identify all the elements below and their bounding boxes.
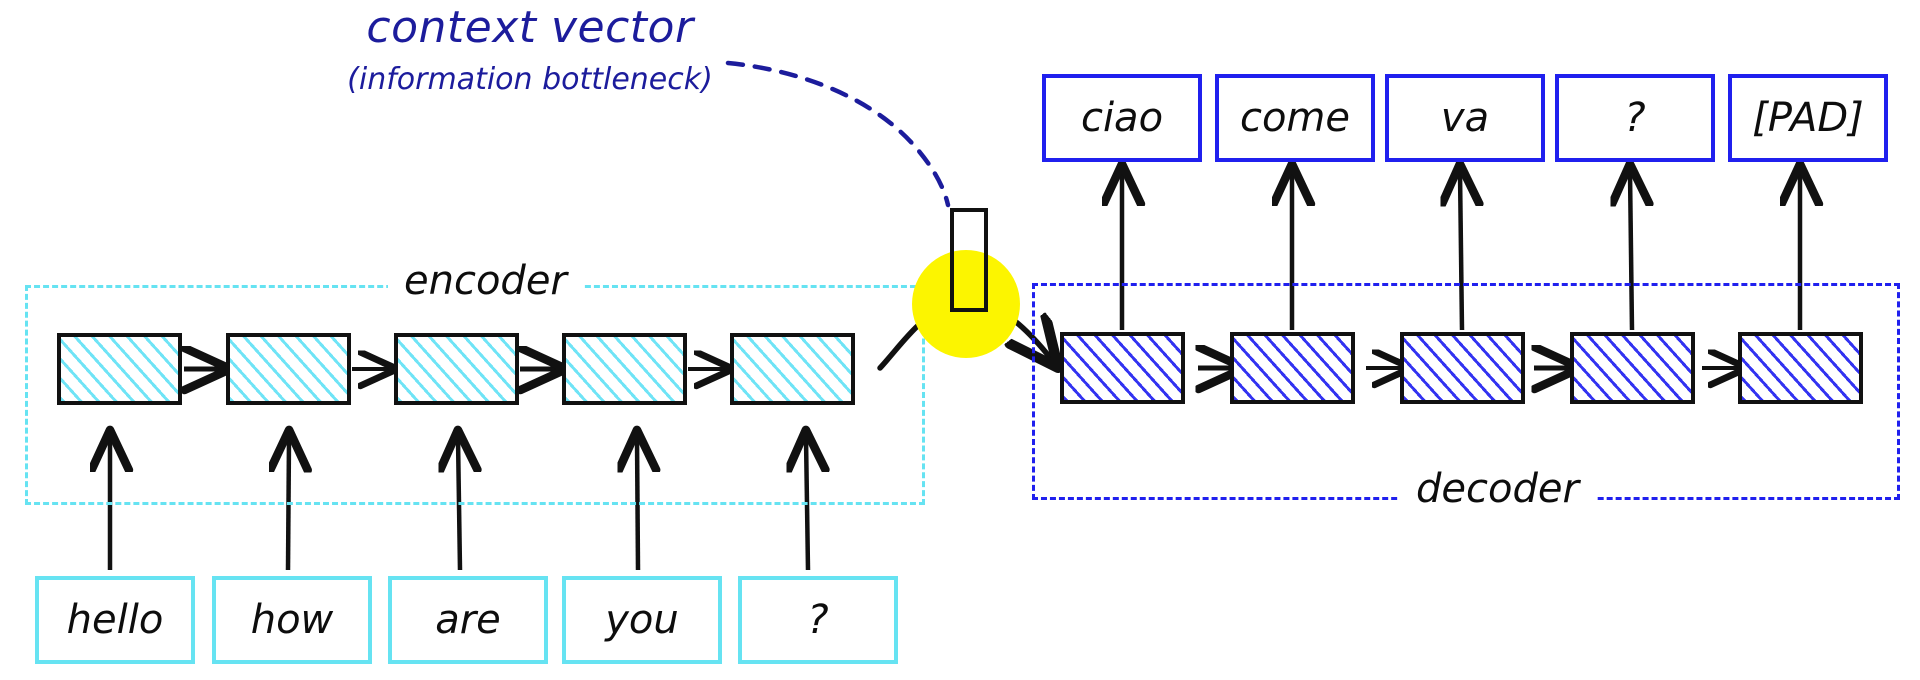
output-word-label: come: [1240, 95, 1350, 141]
encoder-cell-5[interactable]: [730, 333, 855, 405]
output-word-box-2[interactable]: come: [1215, 74, 1375, 162]
output-word-label: ?: [1624, 95, 1645, 141]
output-word-label: [PAD]: [1752, 95, 1864, 141]
output-word-label: ciao: [1081, 95, 1163, 141]
input-word-label: ?: [807, 597, 828, 643]
decoder-group-label: decoder: [1400, 466, 1595, 512]
context-vector-pointer: [728, 63, 948, 205]
decoder-cell-2[interactable]: [1230, 332, 1355, 404]
input-word-box-2[interactable]: how: [212, 576, 372, 664]
output-word-label: va: [1441, 95, 1489, 141]
input-word-box-5[interactable]: ?: [738, 576, 898, 664]
encoder-cell-2[interactable]: [226, 333, 351, 405]
decoder-cell-4[interactable]: [1570, 332, 1695, 404]
encoder-cell-4[interactable]: [562, 333, 687, 405]
output-word-box-5[interactable]: [PAD]: [1728, 74, 1888, 162]
output-word-box-1[interactable]: ciao: [1042, 74, 1202, 162]
encoder-cell-1[interactable]: [57, 333, 182, 405]
decoder-cell-1[interactable]: [1060, 332, 1185, 404]
encoder-cell-3[interactable]: [394, 333, 519, 405]
input-word-label: how: [251, 597, 334, 643]
input-word-box-1[interactable]: hello: [35, 576, 195, 664]
decoder-cell-3[interactable]: [1400, 332, 1525, 404]
input-word-box-3[interactable]: are: [388, 576, 548, 664]
context-vector-box[interactable]: [950, 208, 988, 312]
output-word-box-3[interactable]: va: [1385, 74, 1545, 162]
input-word-label: hello: [67, 597, 164, 643]
input-word-label: you: [605, 597, 679, 643]
diagram-canvas: context vector (information bottleneck) …: [0, 0, 1920, 680]
input-word-box-4[interactable]: you: [562, 576, 722, 664]
output-word-box-4[interactable]: ?: [1555, 74, 1715, 162]
encoder-group-label: encoder: [388, 258, 583, 304]
decoder-cell-5[interactable]: [1738, 332, 1863, 404]
context-vector-title: context vector: [320, 2, 740, 53]
input-word-label: are: [435, 597, 501, 643]
context-vector-subtitle: (information bottleneck): [300, 62, 760, 97]
